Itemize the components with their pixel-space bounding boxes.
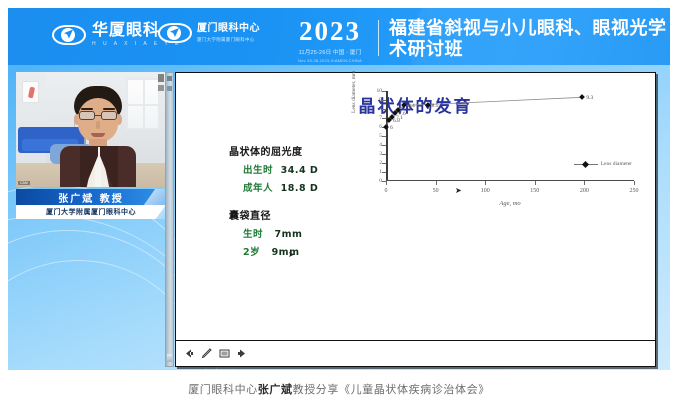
chart-y-tick-label: 0 xyxy=(369,178,382,184)
chart-x-tick-label: 100 xyxy=(474,188,496,194)
brand-xiamen-cn: 厦门眼科中心 xyxy=(197,24,260,34)
text-row-adult: 成年人 18.8 D xyxy=(243,180,359,194)
page-root: 华厦眼科 H U A X I A E Y E 厦门眼科中心 厦门大学附属厦门眼科… xyxy=(0,0,678,412)
page-caption: 厦门眼科中心张广斌教授分享《儿童晶状体疾病诊治体会》 xyxy=(8,374,670,404)
mouse-cursor-icon: ➤ xyxy=(455,186,460,194)
slide-toolbar[interactable] xyxy=(176,340,655,366)
chart-data-label: 8.4 xyxy=(408,103,415,109)
chart-y-axis-label: Lens diameter, mm xyxy=(351,71,357,113)
speaker-name: 张广斌 教授 xyxy=(58,190,123,205)
row-label: 成年人 xyxy=(243,183,273,194)
event-title-main: 福建省斜视与小儿眼科、眼视光学术研讨班 xyxy=(389,19,670,60)
speaker-name-bar: 张广斌 教授 xyxy=(16,189,166,205)
chart-y-tick-label: 10 xyxy=(369,88,382,94)
row-label: 2岁 xyxy=(243,247,260,258)
lens-diameter-chart: Lens diameter, mm Age, mo Lens diameter … xyxy=(344,87,644,211)
slide-canvas: 晶状体的发育 晶状体的屈光度 出生时 34.4 D 成年人 18.8 D 囊袋直… xyxy=(176,73,655,341)
glasses-icon xyxy=(78,111,118,120)
video-control-icon[interactable] xyxy=(158,85,164,91)
chart-x-tick xyxy=(485,181,486,185)
video-source-tag: CAM xyxy=(18,181,30,185)
video-control-icon[interactable] xyxy=(158,74,164,82)
chart-y-tick-label: 8 xyxy=(369,106,382,112)
event-date-cn: 11月25-26日 中国 · 厦门 xyxy=(290,48,370,56)
chart-y-tick-label: 3 xyxy=(369,151,382,157)
chart-x-tick xyxy=(535,181,536,185)
chart-x-tick xyxy=(386,181,387,185)
caption-prefix: 厦门眼科中心 xyxy=(188,381,258,397)
chart-y-tick-label: 5 xyxy=(369,133,382,139)
chart-data-label: 8.5 xyxy=(432,103,439,109)
scrollbar-arrow[interactable] xyxy=(167,354,172,362)
session-body: CAM 张广斌 教授 厦门大学附属厦门眼科中心 晶状体的发育 晶状体的屈光度 xyxy=(8,65,670,370)
text-row-birth: 出生时 34.4 D xyxy=(243,162,359,176)
speaker-nameplate: 张广斌 教授 厦门大学附属厦门眼科中心 xyxy=(16,189,166,219)
event-year: 2023 xyxy=(290,18,370,45)
chart-x-tick xyxy=(584,181,585,185)
event-date-en: Nov 25-26,2023,XIAMEN,CHINA xyxy=(290,58,370,63)
eye-logo-icon xyxy=(158,23,192,43)
row-label: 生时 xyxy=(243,229,263,240)
chart-y-tick-label: 4 xyxy=(369,142,382,148)
chart-y-tick-label: 9 xyxy=(369,97,382,103)
brand-xiamen-sub: 厦门大学附属厦门眼科中心 xyxy=(197,37,260,43)
chart-plot-area: Lens diameter 01234567891005010015020025… xyxy=(386,91,634,181)
chart-x-tick-label: 250 xyxy=(623,188,645,194)
chart-x-tick-label: 200 xyxy=(573,188,595,194)
chart-x-axis-label: Age, mo xyxy=(386,200,634,207)
text-row-2yr: 2岁 9mm xyxy=(243,244,359,258)
slide-text-block: 晶状体的屈光度 出生时 34.4 D 成年人 18.8 D 囊袋直径 生时 7m… xyxy=(229,143,359,258)
mouse-cursor-icon: ➤ xyxy=(288,250,293,258)
row-value: 34.4 D xyxy=(281,165,319,176)
next-slide-icon[interactable] xyxy=(237,348,248,359)
slide-scrollbar[interactable] xyxy=(165,72,174,367)
event-title-block: 福建省斜视与小儿眼科、眼视光学术研讨班 暨国家级继续教育项目“斜视与小儿眼科新技… xyxy=(389,19,670,65)
row-value: 7mm xyxy=(274,229,302,240)
chart-x-tick-label: 150 xyxy=(524,188,546,194)
chart-data-label: 6 xyxy=(390,125,393,131)
chart-x-tick xyxy=(634,181,635,185)
caption-suffix: 教授分享《儿童晶状体疾病诊治体会》 xyxy=(293,381,490,397)
wall-art-decor xyxy=(22,81,39,103)
chart-y-tick-label: 6 xyxy=(369,124,382,130)
speaker-avatar xyxy=(60,86,136,187)
chart-data-label: 9.3 xyxy=(586,95,593,101)
chart-series-line xyxy=(386,91,634,181)
eye-logo-icon xyxy=(52,25,86,45)
speaker-org: 厦门大学附属厦门眼科中心 xyxy=(46,207,136,217)
chart-y-tick-label: 1 xyxy=(369,169,382,175)
prev-slide-icon[interactable] xyxy=(183,348,194,359)
presentation-slide-panel[interactable]: 晶状体的发育 晶状体的屈光度 出生时 34.4 D 成年人 18.8 D 囊袋直… xyxy=(175,72,656,367)
brand-xiamen-eye-center: 厦门眼科中心 厦门大学附属厦门眼科中心 xyxy=(158,23,260,43)
row-label: 出生时 xyxy=(243,165,273,176)
chart-x-tick xyxy=(436,181,437,185)
chart-x-tick-label: 0 xyxy=(375,188,397,194)
scrollbar-marker xyxy=(167,86,172,91)
header-divider xyxy=(378,20,379,56)
row-value: 9mm xyxy=(272,247,300,258)
chart-y-tick-label: 7 xyxy=(369,115,382,121)
text-heading-capsule: 囊袋直径 xyxy=(229,207,359,222)
display-mode-icon[interactable] xyxy=(219,348,230,359)
row-value: 18.8 D xyxy=(281,183,319,194)
caption-emphasis: 张广斌 xyxy=(258,381,293,397)
text-row-newborn: 生时 7mm xyxy=(243,226,359,240)
text-heading-refraction: 晶状体的屈光度 xyxy=(229,143,359,158)
scrollbar-thumb[interactable] xyxy=(167,76,172,81)
chart-x-tick-label: 50 xyxy=(425,188,447,194)
event-year-block: 2023 11月25-26日 中国 · 厦门 Nov 25-26,2023,XI… xyxy=(290,18,370,63)
pen-annotate-icon[interactable] xyxy=(201,348,212,359)
event-header-banner: 华厦眼科 H U A X I A E Y E 厦门眼科中心 厦门大学附属厦门眼科… xyxy=(8,8,670,65)
speaker-video-feed[interactable]: CAM xyxy=(16,72,166,187)
chart-data-label: 7.6 xyxy=(399,111,406,117)
chart-y-tick-label: 2 xyxy=(369,160,382,166)
